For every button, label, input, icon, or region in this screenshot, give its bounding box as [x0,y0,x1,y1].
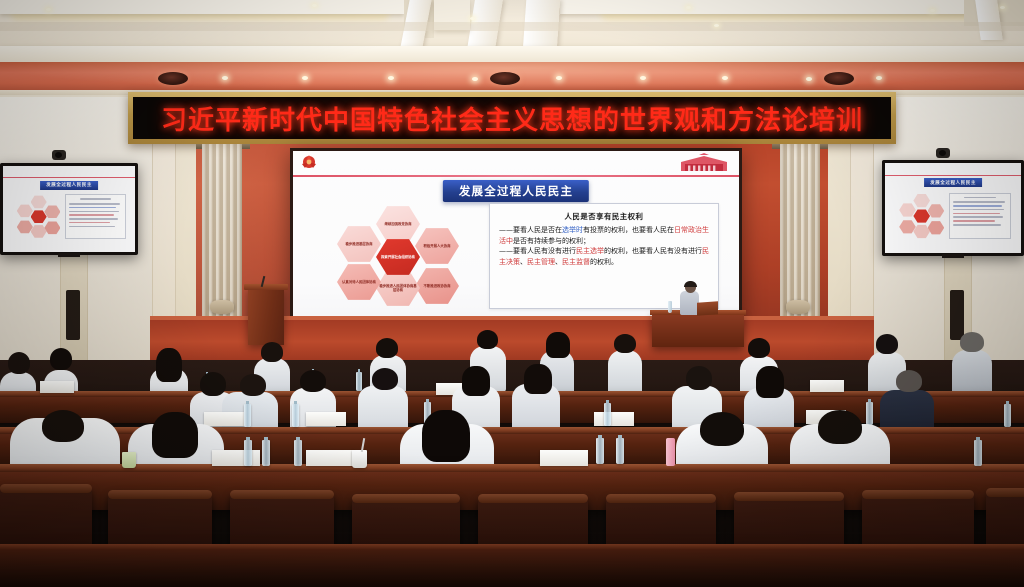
delegate-name-card [212,450,260,466]
attendee-hair [261,342,283,362]
attendee-hair [156,348,182,382]
water-bottle [262,440,270,466]
attendee-hair [8,352,30,374]
hexagon-southeast: 不断推进政协协商 [415,267,459,305]
p2-part-e: 的权利。 [590,258,618,266]
attendee-hair [240,374,266,396]
presenter-hair [684,281,697,287]
delegate-name-card [306,412,346,426]
slide-divider [293,175,739,177]
camera-right [936,148,950,158]
attendee-hair [42,410,84,442]
right-monitor-slide-title: 发展全过程人民民主 [924,178,982,187]
attendee-hair [200,372,226,396]
right-monitor-stand [942,254,964,258]
paper-cup [352,450,367,468]
curtain-tieback-left [210,300,234,314]
red-ribbon-emblem [298,152,320,174]
delegate-name-card [594,412,634,426]
ceiling-spotlight [490,72,520,85]
chair-backrest-top [862,490,974,499]
attendee-hair [372,368,398,390]
attendee-hair [376,338,398,358]
attendee-hair [477,330,498,349]
textbox-paragraph-1: ——要看人民是否在选举时有投票的权利，也要看人民在日常政治生活中是否有持续参与的… [499,225,709,246]
attendee-hair [546,332,570,358]
conference-hall-photo: 习 习近平新时代中国特色社会主义思想的世界观和方法论培训 [0,0,1024,587]
attendee-hair [818,410,862,444]
ceiling-downlight [472,77,478,81]
left-monitor-textbox [65,194,126,239]
p2-part-a: ——要看人民有没有进行 [499,247,576,255]
p2-part-b: 的权利，也要看人民有没有进行 [604,247,702,255]
led-banner: 习近平新时代中国特色社会主义思想的世界观和方法论培训 [133,97,891,139]
chair-backrest-top [352,494,460,503]
p1-part-c: 是否有持续参与的权利； [513,237,590,245]
water-bottle [866,402,873,425]
hexagon-northeast: 积极开展人大协商 [415,227,459,265]
delegate-name-card [540,450,588,466]
wall-vent-right [950,290,964,340]
lectern-top [244,284,288,290]
p1-part-a: ——要看人民是否在 [499,226,562,234]
camera-left [52,150,66,160]
wall-vent-left [66,290,80,340]
water-bottle [356,372,362,391]
attendee-hair [300,370,326,392]
presenter-laptop [697,301,718,315]
conference-desk-row-1 [0,548,1024,587]
ceiling-downlight [222,76,228,80]
desk-surface-1 [0,544,1024,550]
left-monitor-slide-title: 发展全过程人民民主 [40,181,98,190]
delegate-name-card [306,450,354,466]
hexagon-north: 继续加强政党协商 [376,205,420,243]
ceiling-downlight [722,76,728,80]
slide-title: 发展全过程人民民主 [443,180,589,202]
lectern [248,287,284,345]
attendee-hair [50,348,72,370]
attendee-hair [756,366,784,398]
right-wall-monitor: 发展全过程人民民主 [885,163,1021,253]
p1-highlight-1: 选举时 [562,226,583,234]
p2-highlight-3: 民主管理 [527,258,555,266]
ceiling-downlight [302,76,308,80]
delegate-name-card [204,412,244,426]
chair-backrest-top [230,490,334,499]
attendee-hair [960,332,984,352]
water-bottle [244,404,251,427]
attendee-hair [896,370,922,392]
p2-highlight-1: 民主选举 [576,247,604,255]
delegate-name-card [40,381,74,393]
chair-backrest-top [478,494,588,503]
chair-backrest-top [986,488,1024,497]
water-bottle [596,438,604,464]
ceiling [0,0,1024,66]
textbox-paragraph-2: ——要看人民有没有进行民主选举的权利，也要看人民有没有进行民主决策、民主管理、民… [499,246,709,267]
paper-cup [122,452,136,468]
left-monitor-hexagons [15,195,63,240]
water-bottle [244,440,252,466]
hexagon-northwest: 稳步推进基层协商 [337,225,381,263]
water-bottle [292,404,299,427]
water-bottle [604,403,611,426]
left-monitor-stand [58,253,80,257]
led-banner-text: 习近平新时代中国特色社会主义思想的世界观和方法论培训 [161,100,863,137]
attendee-hair [876,334,898,354]
right-monitor-hexagons [897,194,946,241]
attendee [608,350,642,394]
desk-surface-2 [0,464,1024,472]
ceiling-spotlight [158,72,188,85]
hexagon-diagram: 继续加强政党协商 积极开展人大协商 不断推进政协协商 稳步推进人民团体协商基层协… [323,205,473,309]
attendee-hair [748,338,770,358]
chair-backrest-top [0,484,92,493]
right-monitor-textbox [949,193,1012,240]
presenter-desk [652,313,744,347]
attendee-hair [686,366,712,390]
ceiling-downlight [640,76,646,80]
pink-bottle [666,438,675,466]
p2-part-c: 、 [520,258,527,266]
chair-backrest-top [108,490,212,499]
attendee-hair [462,366,490,396]
p2-part-d: 、 [555,258,562,266]
chair-backrest-top [734,492,844,501]
water-bottle [974,440,982,466]
chair-backrest-top [606,494,716,503]
ceiling-spotlight [824,72,854,85]
attendee-hair [524,364,552,394]
left-wall-monitor: 发展全过程人民民主 [3,166,135,252]
attendee-hair [700,412,744,446]
hexagon-southwest: 认真对待人民团体协商 [337,263,381,301]
hexagon-center-label: 探索开展社会组织协商 [376,238,420,276]
water-bottle [294,440,302,466]
ceiling-downlight [876,76,882,80]
ceiling-downlight [388,76,394,80]
attendee-hair [152,412,198,458]
attendee-hair [422,410,470,462]
water-bottle [616,438,624,464]
textbox-heading: 人民是否享有民主权利 [499,211,709,222]
ceiling-downlight [806,77,812,81]
p2-highlight-4: 民主监督 [562,258,590,266]
delegate-name-card [810,380,844,392]
p1-part-b: 有投票的权利，也要看人民在 [583,226,674,234]
projection-slide: 发展全过程人民民主 继续加强政党协商 积极开展人大协商 不断推进政协协商 稳步推… [293,151,739,317]
water-bottle [1004,404,1011,427]
great-hall-of-the-people-graphic [673,153,735,173]
curtain-tieback-right [786,300,810,314]
ceiling-downlight [556,76,562,80]
attendee-hair [614,334,636,353]
presenter-water-bottle [668,301,672,313]
